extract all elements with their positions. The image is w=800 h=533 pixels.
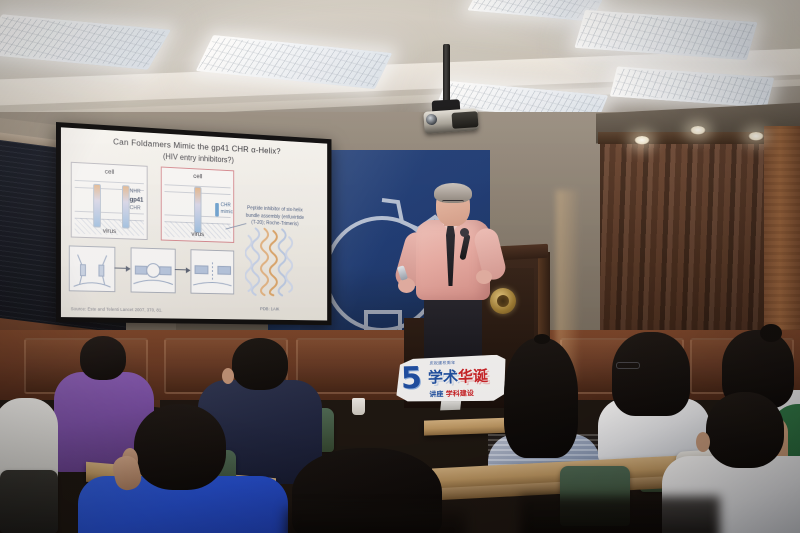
nhr-label: NHR: [130, 188, 141, 194]
fusion-blocked-icon: [191, 250, 233, 293]
sign-main-blue: 学术: [428, 368, 459, 387]
bundle-formation-icon: [132, 248, 175, 292]
microphone-head: [460, 228, 469, 237]
speaker-left-hand: [398, 278, 415, 293]
slide-surface: Can Foldamers Mimic the gp41 CHR α-Helix…: [61, 127, 327, 320]
six-helix-bundle-structure: [245, 226, 294, 307]
prehairpin-diagram-icon: [70, 246, 115, 291]
foreground-blur: [286, 508, 466, 533]
mechanism-step-box: [190, 249, 234, 294]
virus-label: virus: [72, 227, 147, 237]
glasses-icon: [442, 200, 464, 206]
pdb-caption: PDB: 1AIK: [245, 306, 294, 312]
downlight-icon: [690, 126, 706, 135]
arrow-icon: [114, 268, 129, 270]
presentation-slide: Can Foldamers Mimic the gp41 CHR α-Helix…: [61, 127, 327, 320]
attendee-head: [134, 404, 226, 490]
downlight-icon: [748, 132, 764, 141]
speaker-right-hand: [476, 270, 492, 284]
gp41-label: gp41: [130, 195, 144, 205]
list-item: [0, 398, 54, 478]
mechanism-step-box: [131, 247, 176, 293]
cell-label: cell: [72, 167, 147, 178]
list-item: [78, 404, 288, 533]
diagram-panel-right: cell CHR mimic virus: [161, 167, 234, 243]
sign-bottom-text: 讲座 学科建设: [429, 388, 474, 399]
chair: [0, 470, 58, 533]
sign-bottom-right: 学科建设: [446, 389, 474, 398]
glasses-icon: [616, 362, 640, 369]
chr-mimic-line1: CHR: [221, 202, 231, 208]
downlight-icon: [634, 136, 650, 145]
sign-main-text: 学术华诞: [428, 365, 489, 388]
attendee-hair: [504, 338, 578, 458]
mechanism-row: [69, 245, 238, 296]
foreground-blur: [520, 496, 720, 533]
paper-cup: [352, 398, 365, 415]
attendee-head: [706, 392, 784, 468]
chr-mimic-line2: mimic: [221, 209, 233, 215]
attendee-head: [232, 338, 288, 390]
diagram-panel-left: cell NHR gp41 CHR virus: [71, 162, 148, 240]
gp41-domain-labels: NHR gp41 CHR: [130, 187, 144, 213]
gp41-spike: [194, 187, 201, 234]
slide-citation: Source: Este and Telenti Lancet 2007, 37…: [71, 306, 163, 312]
gp41-spike: [93, 184, 101, 228]
sign-stand: [440, 400, 461, 411]
chr-mimic-label: CHR mimic: [221, 202, 233, 216]
sign-number: 5: [401, 364, 428, 397]
virus-label: virus: [162, 230, 234, 239]
arrow-icon: [175, 269, 190, 271]
chr-mimic-bar: [215, 203, 219, 217]
lecture-hall-photo: Can Foldamers Mimic the gp41 CHR α-Helix…: [0, 0, 800, 533]
projector-mount-pole: [443, 44, 450, 106]
mechanism-step-box: [69, 245, 116, 292]
cell-label: cell: [162, 171, 234, 181]
attendee-head: [80, 336, 126, 380]
sign-bottom-left: 讲座: [429, 390, 443, 398]
chr-label: CHR: [130, 206, 141, 212]
projection-screen: Can Foldamers Mimic the gp41 CHR α-Helix…: [56, 122, 331, 325]
gp41-spike: [122, 185, 130, 229]
projector-rear: [451, 111, 478, 129]
